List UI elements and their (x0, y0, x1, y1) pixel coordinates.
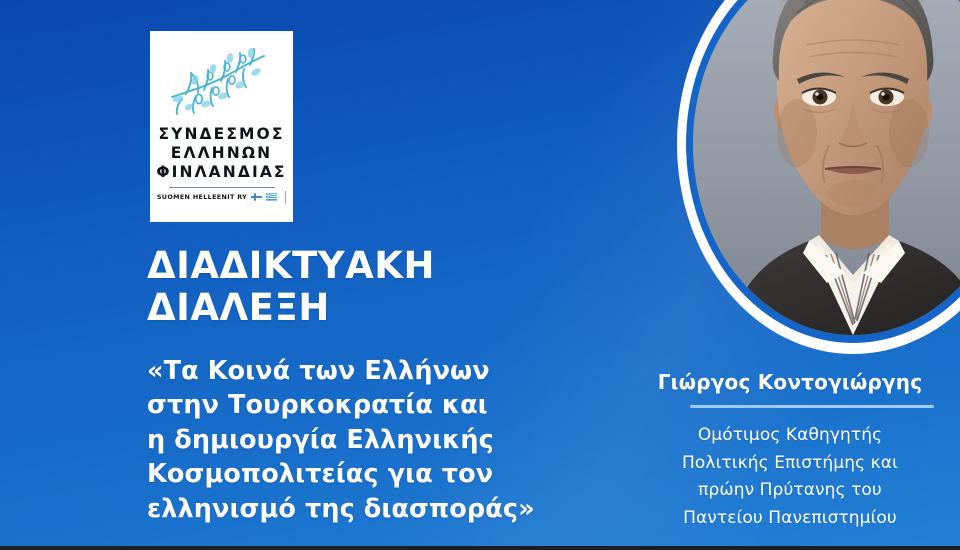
logo-word-line-1: ΣΥΝΔΕΣΜΟΣ (156, 125, 286, 144)
finland-flag-icon (251, 193, 262, 201)
speaker-divider (690, 405, 934, 408)
speaker-role: Ομότιμος Καθηγητής Πολιτικής Επιστήμης κ… (620, 422, 960, 532)
lecture-title: «Τα Κοινά των Ελλήνων στην Τουρκοκρατία … (147, 354, 547, 526)
speaker-portrait-photo (693, 0, 960, 335)
olive-branch-emblem (166, 47, 278, 121)
speaker-name: Γιώργος Κοντογιώργης (620, 370, 960, 394)
logo-subtitle-row: SUOMEN HELLEENIT RY (157, 191, 286, 204)
lecture-title-line-3: η δημιουργία Ελληνικής (147, 423, 547, 457)
lecture-title-line-1: «Τα Κοινά των Ελλήνων (147, 354, 547, 388)
headline-line-2: ΔΙΑΛΕΞΗ (147, 287, 435, 329)
event-headline: ΔΙΑΔΙΚΤΥΑΚΗ ΔΙΑΛΕΞΗ (147, 245, 435, 329)
association-logo-card: ΣΥΝΔΕΣΜΟΣ ΕΛΛΗΝΩΝ ΦΙΝΛΑΝΔΙΑΣ SUOMEN HELL… (150, 31, 293, 222)
speaker-role-line-4: Παντείου Πανεπιστημίου (620, 505, 960, 533)
lecture-title-line-5: ελληνισμό της διασποράς» (147, 492, 547, 526)
logo-vertical-rule (285, 191, 286, 204)
logo-word-line-2: ΕΛΛΗΝΩΝ (156, 144, 286, 163)
logo-subtitle-text: SUOMEN HELLEENIT RY (157, 193, 247, 201)
webinar-poster: ΣΥΝΔΕΣΜΟΣ ΕΛΛΗΝΩΝ ΦΙΝΛΑΝΔΙΑΣ SUOMEN HELL… (0, 0, 960, 550)
speaker-role-line-2: Πολιτικής Επιστήμης και (620, 450, 960, 478)
bottom-edge-strip (0, 546, 960, 550)
speaker-portrait-frame (677, 0, 960, 354)
headline-line-1: ΔΙΑΔΙΚΤΥΑΚΗ (147, 245, 435, 287)
logo-word-line-3: ΦΙΝΛΑΝΔΙΑΣ (156, 163, 286, 182)
lecture-title-line-4: Κοσμοπολιτείας για τον (147, 457, 547, 491)
logo-wordmark: ΣΥΝΔΕΣΜΟΣ ΕΛΛΗΝΩΝ ΦΙΝΛΑΝΔΙΑΣ (156, 125, 286, 182)
speaker-role-line-3: πρώην Πρύτανης του (620, 477, 960, 505)
greece-flag-icon (266, 193, 277, 201)
speaker-role-line-1: Ομότιμος Καθηγητής (620, 422, 960, 450)
lecture-title-line-2: στην Τουρκοκρατία και (147, 388, 547, 422)
logo-divider (169, 187, 275, 188)
